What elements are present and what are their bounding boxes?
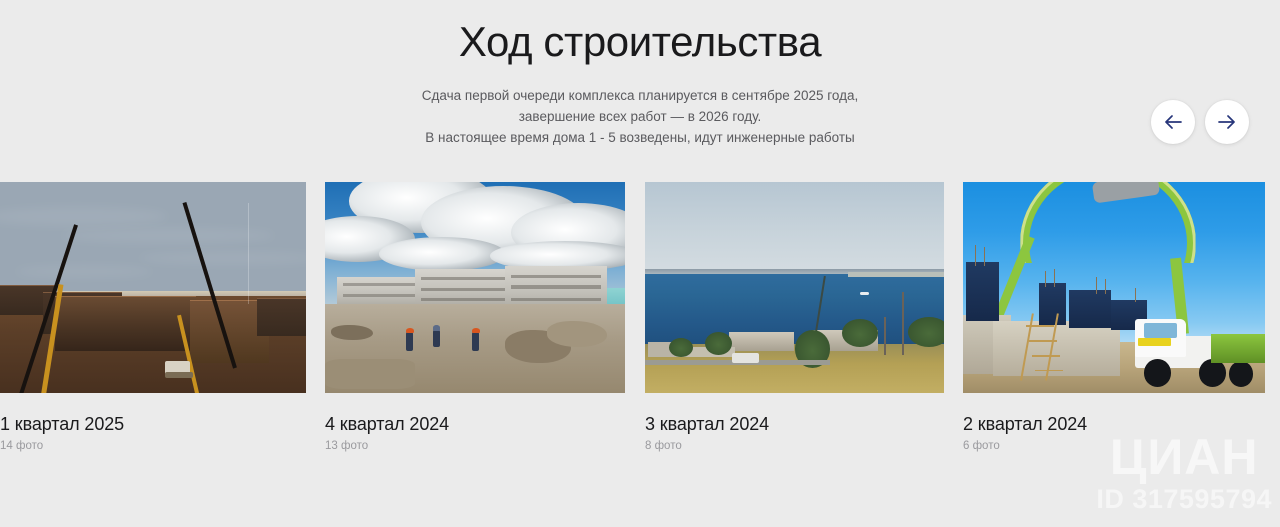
subtitle-line-2: завершение всех работ — в 2026 году. <box>0 106 1280 127</box>
subtitle-line-1: Сдача первой очереди комплекса планирует… <box>0 85 1280 106</box>
photo-scene-sunset-cranes <box>0 182 306 393</box>
gallery-card[interactable]: 1 квартал 2025 14 фото <box>0 182 306 454</box>
photo-scene-concrete-pump <box>963 182 1265 393</box>
card-photo-count: 13 фото <box>325 439 625 454</box>
card-photo-count: 6 фото <box>963 439 1265 454</box>
card-photo[interactable] <box>963 182 1265 393</box>
carousel-navigation <box>1151 100 1249 144</box>
gallery-card[interactable]: 2 квартал 2024 6 фото <box>963 182 1265 454</box>
section-header: Ход строительства Сдача первой очереди к… <box>0 0 1280 148</box>
construction-progress-gallery: 1 квартал 2025 14 фото <box>0 182 1280 454</box>
card-title: 3 квартал 2024 <box>645 413 944 435</box>
section-subtitle: Сдача первой очереди комплекса планирует… <box>0 85 1280 148</box>
watermark-listing-id: ID 317595794 <box>1096 484 1272 515</box>
photo-scene-sea-panorama <box>645 182 944 393</box>
arrow-left-icon <box>1163 114 1183 130</box>
carousel-prev-button[interactable] <box>1151 100 1195 144</box>
gallery-card[interactable]: 4 квартал 2024 13 фото <box>325 182 625 454</box>
arrow-right-icon <box>1217 114 1237 130</box>
subtitle-line-3: В настоящее время дома 1 - 5 возведены, … <box>0 127 1280 148</box>
card-title: 4 квартал 2024 <box>325 413 625 435</box>
card-title: 1 квартал 2025 <box>0 413 306 435</box>
carousel-next-button[interactable] <box>1205 100 1249 144</box>
card-photo-count: 14 фото <box>0 439 306 454</box>
photo-scene-buildings-workers <box>325 182 625 393</box>
card-photo[interactable] <box>645 182 944 393</box>
card-photo[interactable] <box>0 182 306 393</box>
card-photo-count: 8 фото <box>645 439 944 454</box>
card-title: 2 квартал 2024 <box>963 413 1265 435</box>
card-photo[interactable] <box>325 182 625 393</box>
page-title: Ход строительства <box>0 17 1280 67</box>
gallery-card[interactable]: 3 квартал 2024 8 фото <box>645 182 944 454</box>
